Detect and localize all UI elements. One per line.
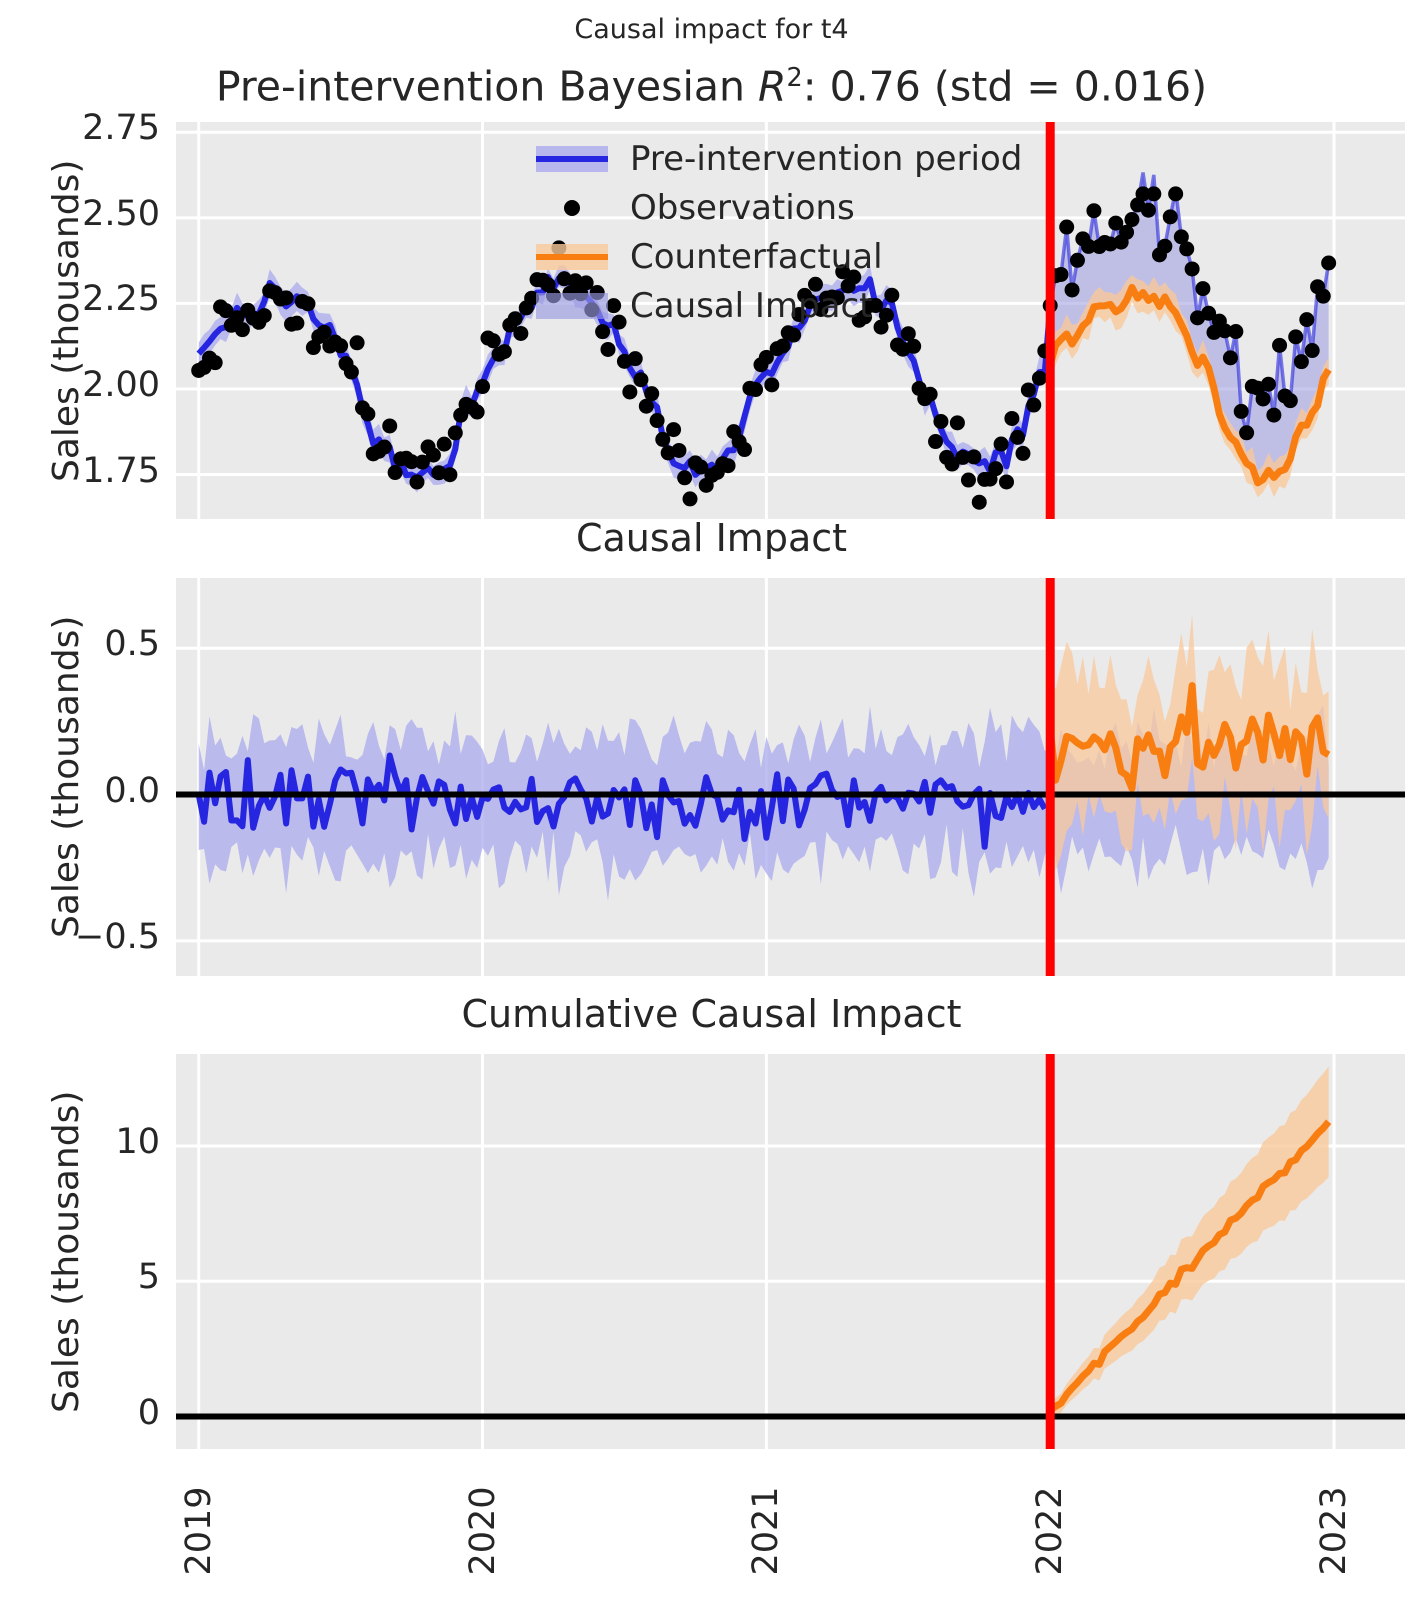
observation-point bbox=[999, 474, 1014, 489]
y-tick-label: 2.25 bbox=[10, 279, 160, 319]
observation-point bbox=[606, 298, 621, 313]
observation-point bbox=[300, 296, 315, 311]
panel-title-cumulative-causal-impact: Cumulative Causal Impact bbox=[0, 992, 1423, 1036]
observation-point bbox=[1032, 371, 1047, 386]
observation-point bbox=[1316, 289, 1331, 304]
observation-point bbox=[879, 308, 894, 323]
legend-label: Causal Impact bbox=[630, 286, 873, 326]
observation-point bbox=[1256, 391, 1271, 406]
legend-swatch-dot bbox=[564, 200, 580, 216]
observation-point bbox=[1146, 186, 1161, 201]
x-tick-label: 2022 bbox=[1030, 1471, 1070, 1591]
y-tick-label: −0.5 bbox=[10, 917, 160, 957]
observation-point bbox=[409, 475, 424, 490]
observation-point bbox=[906, 339, 921, 354]
y-tick-label: 0 bbox=[10, 1393, 160, 1433]
observation-point bbox=[1070, 253, 1085, 268]
panel-title-causal-impact: Causal Impact bbox=[0, 516, 1423, 560]
legend-label: Observations bbox=[630, 188, 855, 228]
observation-point bbox=[933, 414, 948, 429]
observation-point bbox=[1053, 267, 1068, 282]
observation-point bbox=[1321, 256, 1336, 271]
observation-point bbox=[721, 458, 736, 473]
observation-point bbox=[1179, 241, 1194, 256]
observation-point bbox=[1234, 404, 1249, 419]
observation-point bbox=[437, 437, 452, 452]
y-tick-label: 0.0 bbox=[10, 771, 160, 811]
observation-point bbox=[1168, 186, 1183, 201]
main-title-suffix: : 0.76 (std = 0.016) bbox=[803, 63, 1207, 111]
figure-suptitle: Causal impact for t4 bbox=[0, 14, 1423, 45]
observation-point bbox=[1299, 312, 1314, 327]
legend-swatch-band bbox=[536, 293, 608, 319]
observation-point bbox=[972, 495, 987, 510]
observation-point bbox=[650, 413, 665, 428]
main-title-r-symbol: R bbox=[758, 63, 787, 111]
observation-point bbox=[289, 316, 304, 331]
main-title-prefix: Pre-intervention Bayesian bbox=[216, 63, 758, 111]
observation-point bbox=[388, 465, 403, 480]
plot-panel-cumulative-causal-impact bbox=[176, 1054, 1405, 1449]
observation-point bbox=[350, 335, 365, 350]
observation-point bbox=[1272, 338, 1287, 353]
y-tick-label: 0.5 bbox=[10, 624, 160, 664]
observation-point bbox=[442, 467, 457, 482]
observation-point bbox=[1163, 209, 1178, 224]
observation-point bbox=[333, 338, 348, 353]
observation-point bbox=[426, 448, 441, 463]
legend-label: Pre-intervention period bbox=[630, 139, 1022, 179]
observation-point bbox=[470, 405, 485, 420]
observation-point bbox=[1239, 425, 1254, 440]
observation-point bbox=[360, 407, 375, 422]
observation-point bbox=[497, 344, 512, 359]
y-tick-label: 2.75 bbox=[10, 108, 160, 148]
observation-point bbox=[1086, 203, 1101, 218]
observation-point bbox=[377, 440, 392, 455]
observation-point bbox=[988, 461, 1003, 476]
observation-point bbox=[1261, 377, 1276, 392]
observation-point bbox=[1185, 261, 1200, 276]
observation-point bbox=[1119, 225, 1134, 240]
x-tick-label: 2021 bbox=[746, 1471, 786, 1591]
observation-point bbox=[737, 442, 752, 457]
observation-point bbox=[671, 443, 686, 458]
observation-point bbox=[1266, 408, 1281, 423]
observation-point bbox=[764, 377, 779, 392]
observation-point bbox=[1288, 329, 1303, 344]
observation-point bbox=[748, 382, 763, 397]
observation-point bbox=[994, 437, 1009, 452]
y-tick-label: 1.75 bbox=[10, 451, 160, 491]
x-tick-label: 2019 bbox=[179, 1471, 219, 1591]
observation-point bbox=[1305, 343, 1320, 358]
observation-point bbox=[644, 386, 659, 401]
main-title-exponent: 2 bbox=[787, 62, 803, 92]
x-tick-label: 2023 bbox=[1314, 1471, 1354, 1591]
figure-main-title: Pre-intervention Bayesian R2: 0.76 (std … bbox=[0, 62, 1423, 111]
plot-panel-observed-vs-counterfactual: Pre-intervention periodObservationsCount… bbox=[176, 122, 1405, 519]
observation-point bbox=[257, 308, 272, 323]
y-tick-label: 2.50 bbox=[10, 194, 160, 234]
observation-point bbox=[1021, 382, 1036, 397]
observation-point bbox=[1294, 354, 1309, 369]
observation-point bbox=[775, 338, 790, 353]
observation-point bbox=[666, 422, 681, 437]
observation-point bbox=[1059, 220, 1074, 235]
observation-point bbox=[923, 387, 938, 402]
y-tick-label: 2.00 bbox=[10, 365, 160, 405]
y-tick-label: 5 bbox=[10, 1257, 160, 1297]
observation-point bbox=[344, 365, 359, 380]
observation-point bbox=[1228, 324, 1243, 339]
observation-point bbox=[486, 333, 501, 348]
observation-point bbox=[961, 473, 976, 488]
observation-point bbox=[382, 418, 397, 433]
observation-point bbox=[235, 322, 250, 337]
observation-point bbox=[622, 384, 637, 399]
observation-point bbox=[595, 324, 610, 339]
observation-point bbox=[1141, 203, 1156, 218]
observation-point bbox=[928, 434, 943, 449]
observation-point bbox=[508, 311, 523, 326]
observation-point bbox=[600, 342, 615, 357]
y-tick-label: 10 bbox=[10, 1122, 160, 1162]
observation-point bbox=[1004, 411, 1019, 426]
observation-point bbox=[1015, 446, 1030, 461]
observation-point bbox=[1157, 239, 1172, 254]
legend-label: Counterfactual bbox=[630, 237, 883, 277]
observation-point bbox=[1195, 281, 1210, 296]
observation-point bbox=[1124, 212, 1139, 227]
observation-point bbox=[612, 315, 627, 330]
observation-point bbox=[1283, 393, 1298, 408]
observation-point bbox=[1026, 398, 1041, 413]
x-tick-label: 2020 bbox=[463, 1471, 503, 1591]
observation-point bbox=[786, 328, 801, 343]
observation-point bbox=[475, 379, 490, 394]
observation-point bbox=[208, 355, 223, 370]
observation-point bbox=[884, 288, 899, 303]
observation-point bbox=[279, 290, 294, 305]
observation-point bbox=[628, 351, 643, 366]
observation-point bbox=[950, 415, 965, 430]
observation-point bbox=[677, 470, 692, 485]
observation-point bbox=[448, 425, 463, 440]
observation-point bbox=[1223, 350, 1238, 365]
observation-point bbox=[1065, 282, 1080, 297]
plot-panel-causal-impact bbox=[176, 578, 1405, 976]
observation-point bbox=[1010, 430, 1025, 445]
observation-point bbox=[966, 449, 981, 464]
observation-point bbox=[683, 491, 698, 506]
observation-point bbox=[513, 326, 528, 341]
observation-point bbox=[633, 372, 648, 387]
